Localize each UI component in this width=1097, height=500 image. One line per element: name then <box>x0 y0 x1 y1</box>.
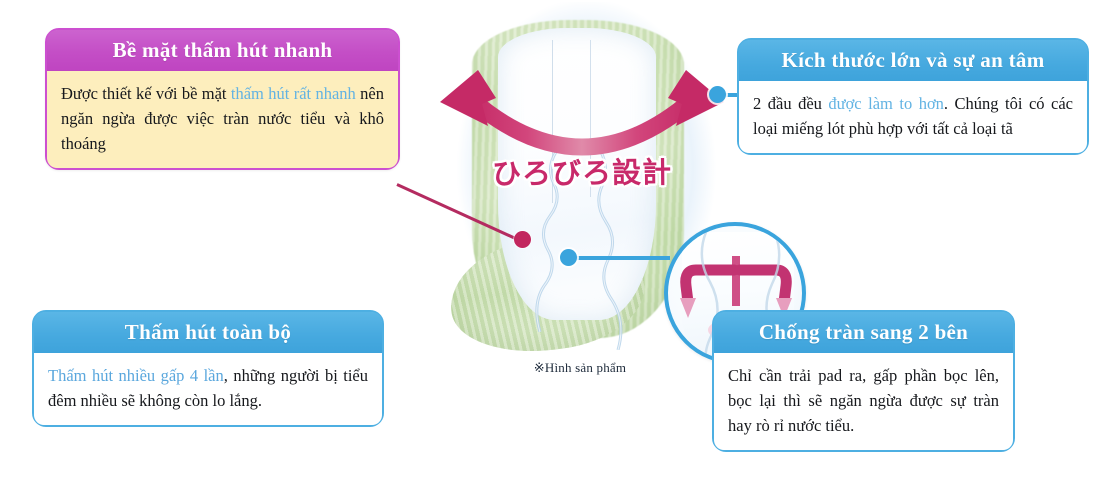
card-side-text-1: Chỉ cần trải pad ra, gấp phần bọc lên, b… <box>728 366 999 435</box>
card-side-body: Chỉ cần trải pad ra, gấp phần bọc lên, b… <box>714 353 1013 450</box>
card-surface-title: Bề mặt thấm hút nhanh <box>47 30 398 71</box>
connector-dot-side <box>560 249 577 266</box>
card-size-title: Kích thước lớn và sự an tâm <box>739 40 1087 81</box>
card-size-body: 2 đầu đều được làm to hơn. Chúng tôi có … <box>739 81 1087 153</box>
connector-dot-surface <box>514 231 531 248</box>
jp-overlay-label: ひろびろ設計 <box>432 149 732 194</box>
card-absorb-title: Thấm hút toàn bộ <box>34 312 382 353</box>
card-surface-text-1: Được thiết kế với bề mặt <box>61 84 231 103</box>
card-absorb-highlight: Thấm hút nhiều gấp 4 lần <box>48 366 224 385</box>
infographic-canvas: ひろびろ設計 ※Hình sản phẩm Bề <box>0 0 1097 500</box>
card-absorb-body: Thấm hút nhiều gấp 4 lần, những người bị… <box>34 353 382 425</box>
card-side-leak-protection[interactable]: Chống tràn sang 2 bên Chỉ cần trải pad r… <box>712 310 1015 452</box>
card-large-size[interactable]: Kích thước lớn và sự an tâm 2 đầu đều đư… <box>737 38 1089 155</box>
card-size-text-1: 2 đầu đều <box>753 94 828 113</box>
card-surface-body: Được thiết kế với bề mặt thấm hút rất nh… <box>47 71 398 168</box>
connector-dot-size <box>709 86 726 103</box>
product-caption: ※Hình sản phẩm <box>420 360 740 376</box>
card-full-absorption[interactable]: Thấm hút toàn bộ Thấm hút nhiều gấp 4 lầ… <box>32 310 384 427</box>
card-side-title: Chống tràn sang 2 bên <box>714 312 1013 353</box>
spacious-design-arrow: ひろびろ設計 <box>432 64 732 182</box>
card-size-highlight: được làm to hơn <box>828 94 944 113</box>
card-surface-highlight: thấm hút rất nhanh <box>231 84 356 103</box>
card-fast-absorbing-surface[interactable]: Bề mặt thấm hút nhanh Được thiết kế với … <box>45 28 400 170</box>
connector-line-side <box>574 256 670 260</box>
